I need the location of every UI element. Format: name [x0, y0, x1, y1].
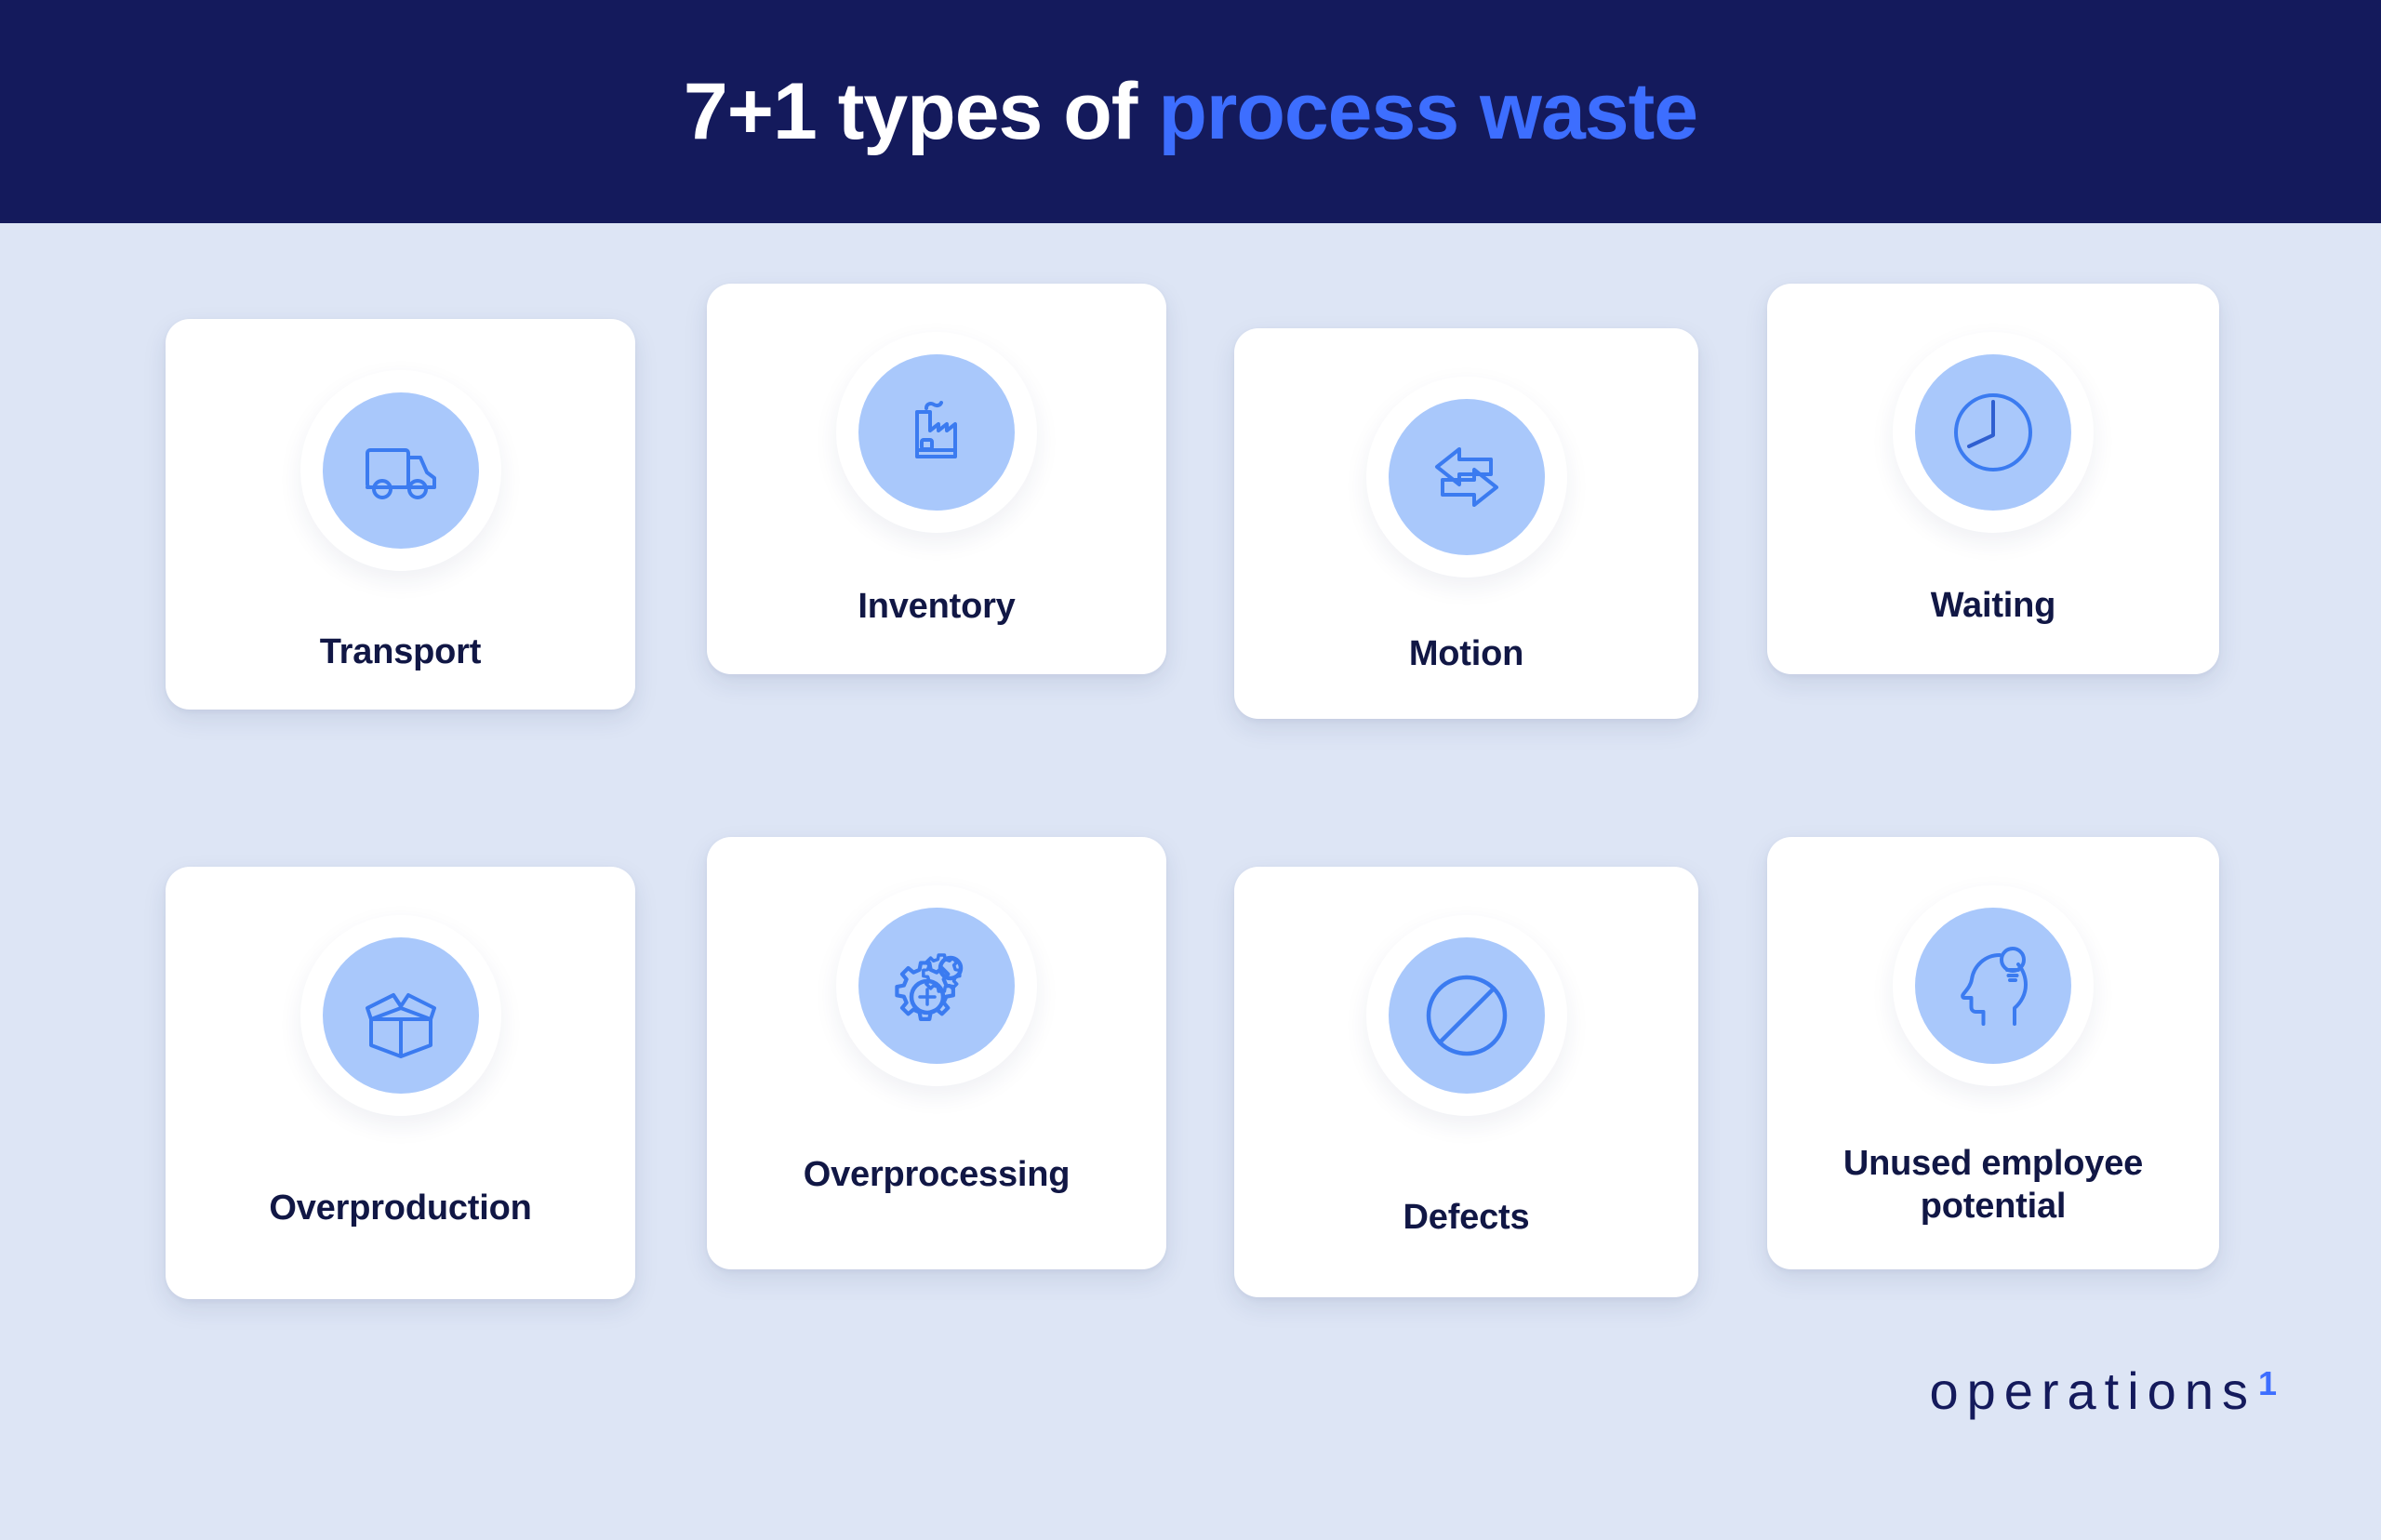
icon-disc [858, 354, 1015, 511]
waste-card-defects[interactable]: Defects [1234, 867, 1698, 1297]
card-label: Overprocessing [707, 1153, 1166, 1196]
page-header: 7+1 types of process waste [0, 0, 2381, 223]
icon-disc [858, 908, 1015, 1064]
waste-card-grid: Transport Inventory Mo [0, 223, 2381, 1540]
gears-icon [886, 936, 987, 1036]
waste-card-overprocessing[interactable]: Overprocessing [707, 837, 1166, 1269]
icon-badge [1366, 915, 1567, 1116]
icon-disc [323, 392, 479, 549]
card-label: Defects [1234, 1196, 1698, 1239]
head-lightbulb-icon [1942, 935, 2044, 1037]
logo-superscript: 1 [2258, 1367, 2277, 1401]
waste-card-inventory[interactable]: Inventory [707, 284, 1166, 674]
card-label: Overproduction [166, 1187, 635, 1229]
waste-card-transport[interactable]: Transport [166, 319, 635, 710]
waste-card-unused-potential[interactable]: Unused employee potential [1767, 837, 2219, 1269]
factory-icon [888, 384, 985, 481]
truck-icon [352, 422, 449, 519]
two-way-arrows-icon [1418, 429, 1515, 525]
open-box-icon [351, 965, 451, 1066]
icon-badge [1893, 885, 2094, 1086]
icon-badge [1366, 377, 1567, 577]
icon-disc [323, 937, 479, 1094]
waste-card-motion[interactable]: Motion [1234, 328, 1698, 719]
icon-badge [836, 332, 1037, 533]
clock-icon [1939, 378, 2047, 486]
card-label: Inventory [707, 585, 1166, 628]
waste-card-overproduction[interactable]: Overproduction [166, 867, 635, 1299]
card-label: Unused employee potential [1767, 1142, 2219, 1228]
icon-disc [1389, 937, 1545, 1094]
card-label: Motion [1234, 632, 1698, 675]
icon-badge [300, 915, 501, 1116]
icon-badge [1893, 332, 2094, 533]
icon-disc [1915, 908, 2071, 1064]
icon-badge [300, 370, 501, 571]
page-title-plain: 7+1 types of [684, 67, 1158, 156]
page-title-accent: process waste [1158, 67, 1697, 156]
operations1-logo: operations 1 [1929, 1365, 2277, 1417]
waste-card-waiting[interactable]: Waiting [1767, 284, 2219, 674]
icon-disc [1915, 354, 2071, 511]
card-label: Waiting [1767, 584, 2219, 627]
page-title: 7+1 types of process waste [684, 66, 1697, 158]
logo-wordmark: operations [1929, 1365, 2256, 1417]
card-label: Transport [166, 631, 635, 673]
icon-disc [1389, 399, 1545, 555]
prohibition-icon [1412, 961, 1522, 1070]
icon-badge [836, 885, 1037, 1086]
